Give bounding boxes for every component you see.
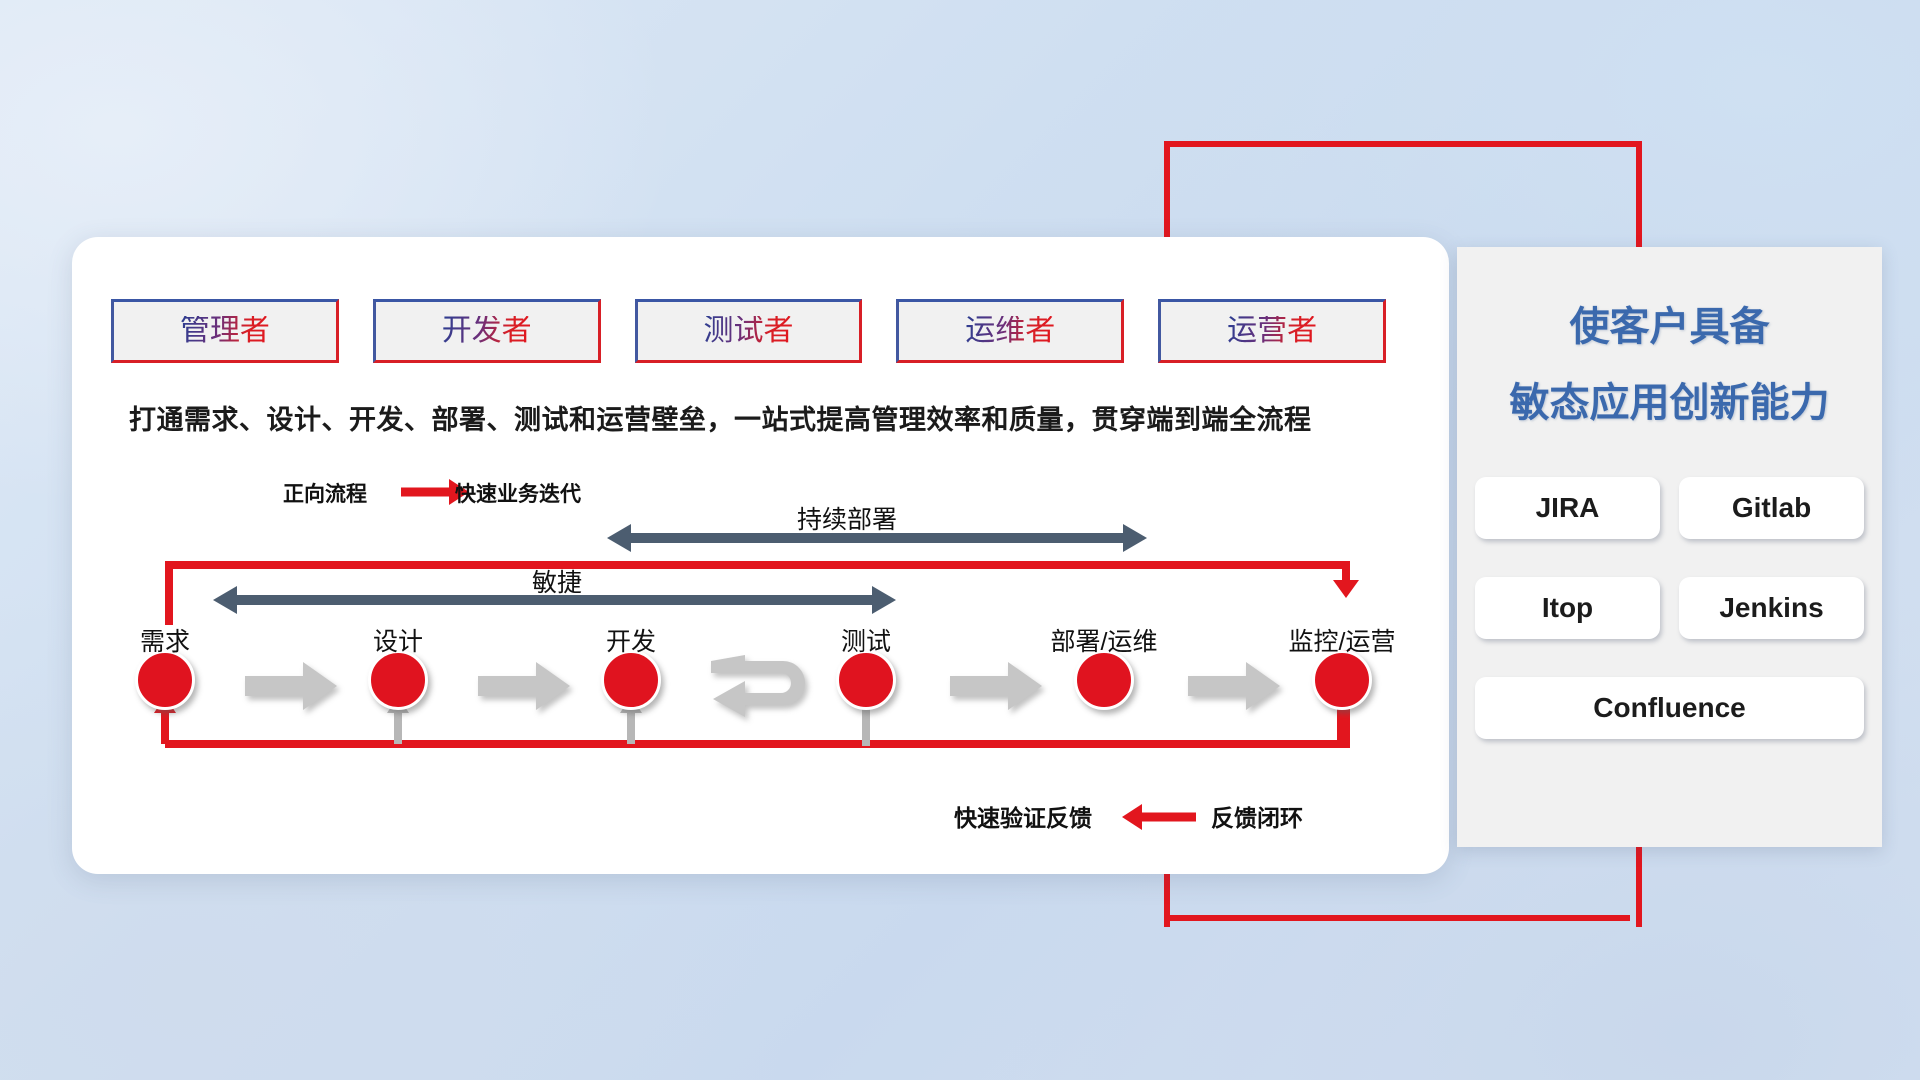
node-dot-icon xyxy=(1074,650,1134,710)
continuous-deploy-double-arrow-icon xyxy=(607,523,1147,553)
pipeline-node-requirement[interactable]: 需求 xyxy=(135,650,195,710)
loop-left-segment xyxy=(165,561,173,625)
role-label: 运维者 xyxy=(965,316,1055,346)
flow-arrow-requirement-design-icon xyxy=(245,662,337,710)
panel-title-line1: 使客户具备 xyxy=(1457,294,1882,352)
flow-arrow-deploy-monitor-icon xyxy=(1188,662,1280,710)
tool-chip-jira[interactable]: JIRA xyxy=(1475,477,1660,539)
role-label: 开发者 xyxy=(442,316,532,346)
tool-chip-gitlab[interactable]: Gitlab xyxy=(1679,477,1864,539)
agile-double-arrow-icon xyxy=(213,585,896,615)
tool-chip-jenkins[interactable]: Jenkins xyxy=(1679,577,1864,639)
flow-arrow-design-develop-icon xyxy=(478,662,570,710)
headline-text: 打通需求、设计、开发、部署、测试和运营壁垒，一站式提高管理效率和质量，贯穿端到端… xyxy=(129,398,1312,437)
loop-bottom-segment xyxy=(165,740,1350,748)
loop-right-arrowhead-icon xyxy=(1333,580,1359,598)
node-label: 监控/运营 xyxy=(1289,622,1396,658)
role-box-tester[interactable]: 测试者 xyxy=(635,299,863,363)
role-label: 测试者 xyxy=(703,316,793,346)
tool-chip-label: Confluence xyxy=(1593,692,1745,724)
pipeline-node-design[interactable]: 设计 xyxy=(368,650,428,710)
role-box-manager[interactable]: 管理者 xyxy=(111,299,339,363)
flow-arrow-test-deploy-icon xyxy=(950,662,1042,710)
node-label: 开发 xyxy=(606,622,656,658)
stem-design xyxy=(394,710,402,744)
legend-forward-flow-label: 正向流程 xyxy=(283,478,367,508)
pipeline-node-monitor-operation[interactable]: 监控/运营 xyxy=(1312,650,1372,710)
node-dot-icon xyxy=(1312,650,1372,710)
tool-chip-itop[interactable]: Itop xyxy=(1475,577,1660,639)
tool-chip-label: JIRA xyxy=(1536,492,1600,524)
legend-feedback-loop-label: 反馈闭环 xyxy=(1211,799,1303,833)
node-dot-icon xyxy=(135,650,195,710)
iteration-uturn-arrow-icon xyxy=(705,655,817,717)
role-box-operation[interactable]: 运营者 xyxy=(1158,299,1386,363)
stem-develop xyxy=(627,710,635,744)
node-dot-icon xyxy=(836,650,896,710)
tool-chip-label: Itop xyxy=(1542,592,1593,624)
pipeline-node-develop[interactable]: 开发 xyxy=(601,650,661,710)
panel-title-line2: 敏态应用创新能力 xyxy=(1457,370,1882,428)
node-label: 设计 xyxy=(373,622,423,658)
tool-chip-confluence[interactable]: Confluence xyxy=(1475,677,1864,739)
outer-red-frame-bottom xyxy=(1164,915,1630,921)
pipeline-node-deploy-ops[interactable]: 部署/运维 xyxy=(1074,650,1134,710)
role-box-row: 管理者 开发者 测试者 运维者 运营者 xyxy=(111,299,1386,363)
loop-top-segment xyxy=(165,561,1350,569)
node-dot-icon xyxy=(601,650,661,710)
node-label: 测试 xyxy=(841,622,891,658)
node-label: 部署/运维 xyxy=(1051,622,1158,658)
right-panel: 使客户具备 敏态应用创新能力 JIRA Gitlab Itop Jenkins … xyxy=(1457,247,1882,847)
role-label: 管理者 xyxy=(180,316,270,346)
legend-feedback-result-label: 快速验证反馈 xyxy=(954,799,1092,833)
role-box-ops[interactable]: 运维者 xyxy=(896,299,1124,363)
pipeline-node-test[interactable]: 测试 xyxy=(836,650,896,710)
role-label: 运营者 xyxy=(1227,316,1317,346)
stem-requirement xyxy=(161,710,169,744)
legend-forward-result-label: 快速业务迭代 xyxy=(455,478,581,508)
node-label: 需求 xyxy=(140,622,190,658)
tool-chip-label: Gitlab xyxy=(1732,492,1811,524)
role-box-developer[interactable]: 开发者 xyxy=(373,299,601,363)
tool-chip-label: Jenkins xyxy=(1719,592,1823,624)
node-dot-icon xyxy=(368,650,428,710)
